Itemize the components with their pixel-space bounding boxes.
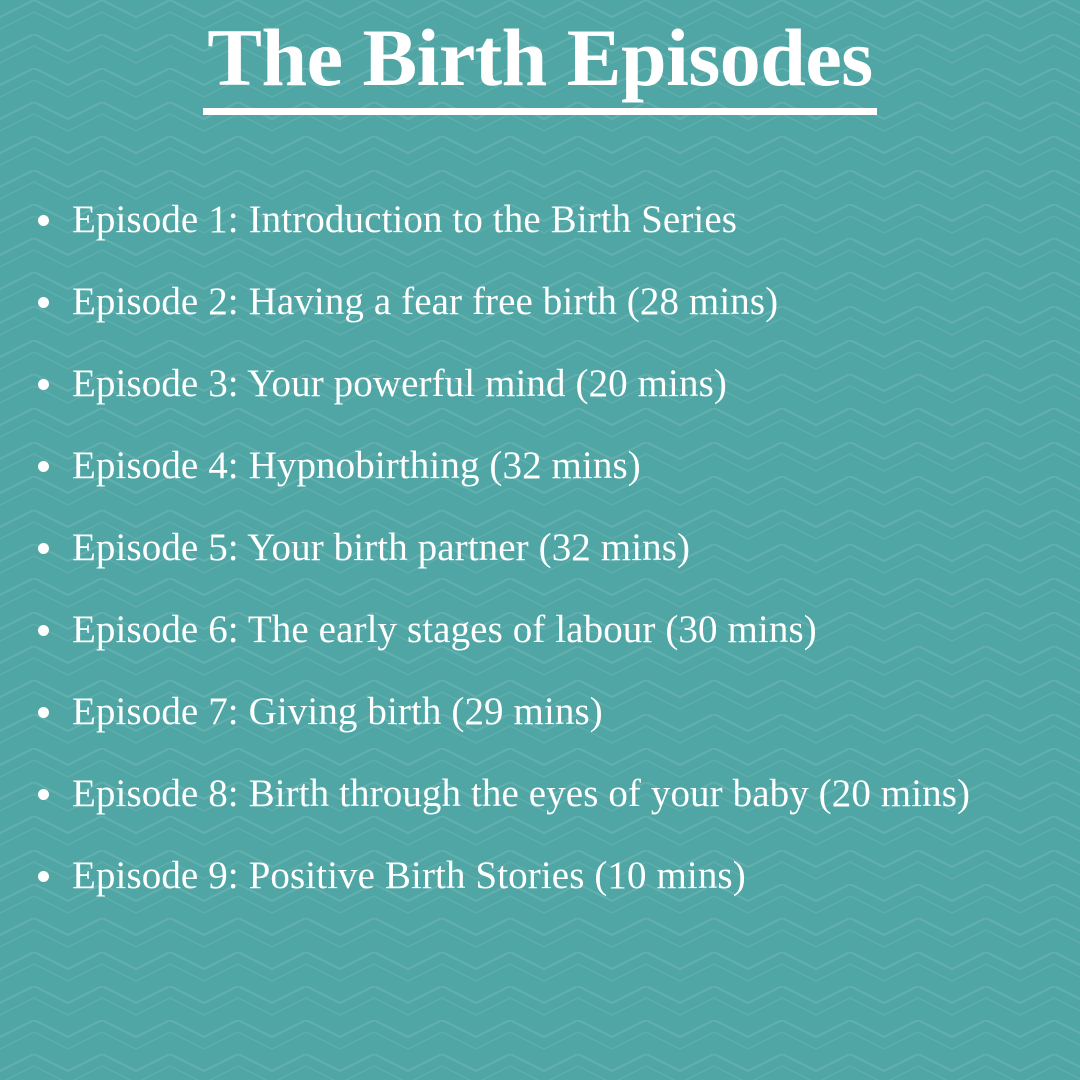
episode-label: Episode 4: Hypnobirthing (32 mins) <box>72 445 641 488</box>
bullet-icon <box>38 625 49 636</box>
page-title: The Birth Episodes <box>203 16 876 115</box>
slide-canvas: The Birth Episodes Episode 1: Introducti… <box>0 0 1080 1080</box>
bullet-icon <box>38 789 49 800</box>
list-item: Episode 5: Your birth partner (32 mins) <box>30 507 1070 589</box>
list-item: Episode 9: Positive Birth Stories (10 mi… <box>30 835 1070 917</box>
bullet-icon <box>38 707 49 718</box>
bullet-icon <box>38 871 49 882</box>
episode-label: Episode 8: Birth through the eyes of you… <box>72 773 970 816</box>
episode-label: Episode 6: The early stages of labour (3… <box>72 609 817 652</box>
list-item: Episode 7: Giving birth (29 mins) <box>30 671 1070 753</box>
bullet-icon <box>38 215 49 226</box>
list-item: Episode 4: Hypnobirthing (32 mins) <box>30 425 1070 507</box>
episode-label: Episode 7: Giving birth (29 mins) <box>72 691 603 734</box>
episode-list: Episode 1: Introduction to the Birth Ser… <box>30 179 1070 917</box>
episode-label: Episode 1: Introduction to the Birth Ser… <box>72 199 737 242</box>
page-title-container: The Birth Episodes <box>0 16 1080 115</box>
episode-label: Episode 5: Your birth partner (32 mins) <box>72 527 690 570</box>
bullet-icon <box>38 461 49 472</box>
bullet-icon <box>38 297 49 308</box>
list-item: Episode 8: Birth through the eyes of you… <box>30 753 1070 835</box>
list-item: Episode 2: Having a fear free birth (28 … <box>30 261 1070 343</box>
list-item: Episode 3: Your powerful mind (20 mins) <box>30 343 1070 425</box>
episode-label: Episode 2: Having a fear free birth (28 … <box>72 281 778 324</box>
bullet-icon <box>38 543 49 554</box>
bullet-icon <box>38 379 49 390</box>
episode-label: Episode 9: Positive Birth Stories (10 mi… <box>72 855 746 898</box>
list-item: Episode 6: The early stages of labour (3… <box>30 589 1070 671</box>
episode-label: Episode 3: Your powerful mind (20 mins) <box>72 363 727 406</box>
list-item: Episode 1: Introduction to the Birth Ser… <box>30 179 1070 261</box>
